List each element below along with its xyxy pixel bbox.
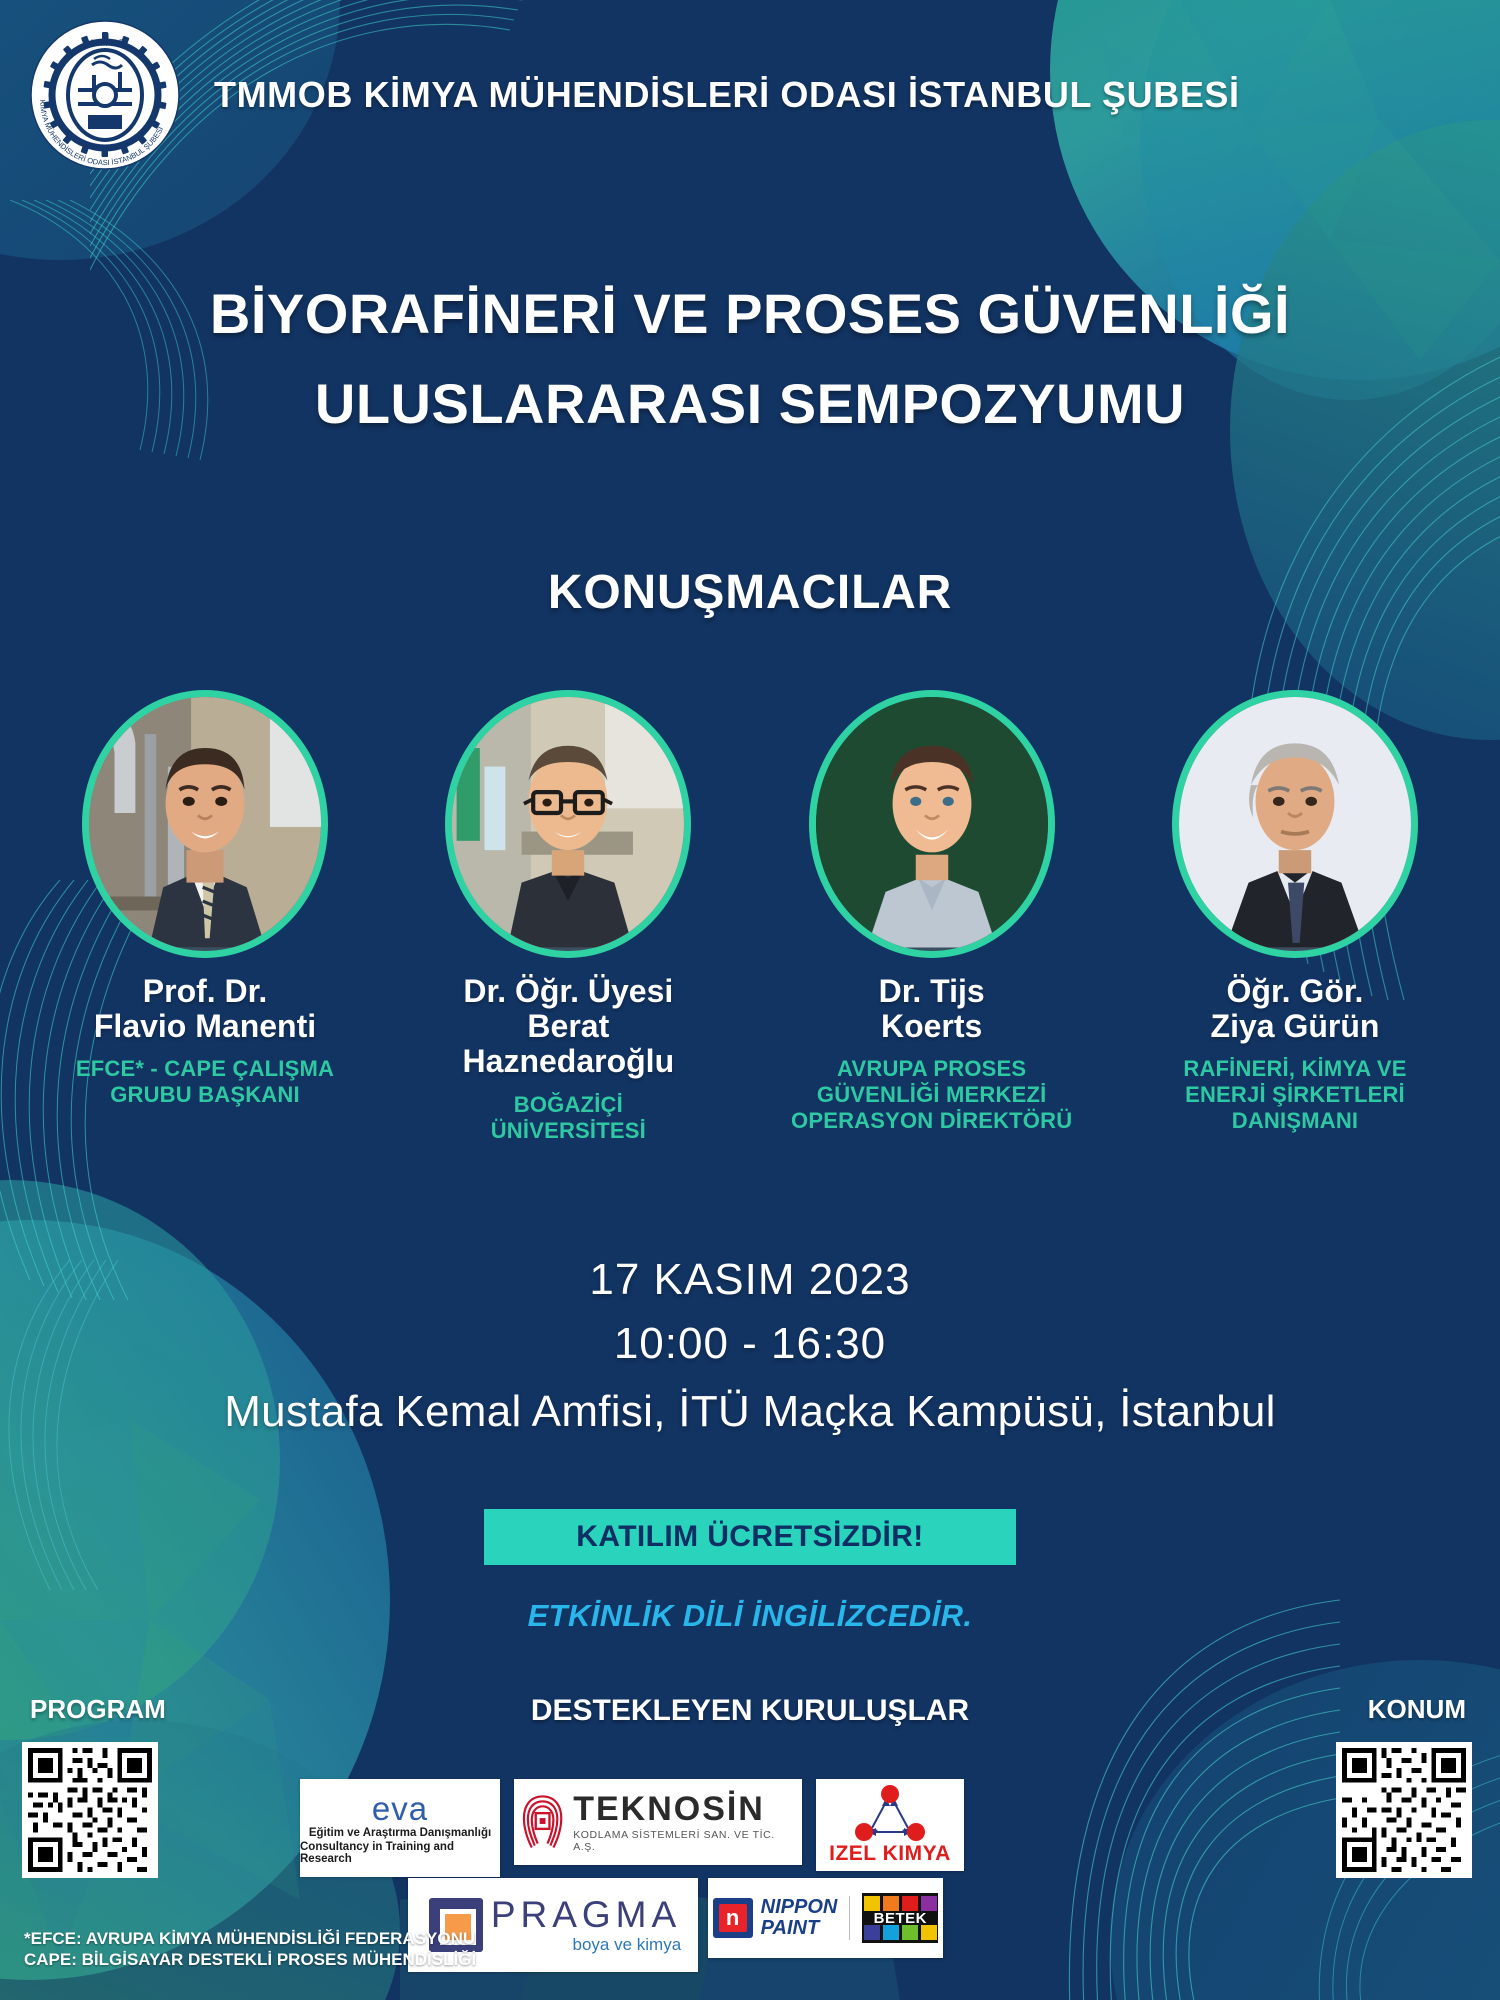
speaker-name: Prof. Dr. Flavio Manenti (40, 974, 370, 1044)
title-line-2: ULUSLARARASI SEMPOZYUMU (0, 368, 1500, 440)
free-admission-banner: KATILIM ÜCRETSİZDİR! (484, 1509, 1016, 1565)
event-language-note: ETKİNLİK DİLİ İNGİLİZCEDİR. (0, 1598, 1500, 1634)
izel-wordmark: IZEL KIMYA (829, 1842, 951, 1866)
sponsor-logos-row-2: PRAGMA boya ve kimya NIPPON PAINT (408, 1878, 943, 1972)
logo-divider (849, 1896, 850, 1940)
speakers-list: Prof. Dr. Flavio Manenti EFCE* - CAPE ÇA… (40, 690, 1460, 1143)
sponsor-logo-teknosin: TEKNOSİN KODLAMA SİSTEMLERİ SAN. VE TİC.… (514, 1779, 802, 1865)
speaker-card-4: Öğr. Gör. Ziya Gürün RAFİNERİ, KİMYA VE … (1130, 690, 1460, 1143)
speaker-name: Öğr. Gör. Ziya Gürün (1130, 974, 1460, 1044)
poster-header: TMMOB KİMYA MÜHENDİSLERİ ODASI İSTANBUL … (0, 0, 1500, 190)
speaker-name: Dr. Tijs Koerts (767, 974, 1097, 1044)
betek-logo: BETEK (862, 1893, 938, 1943)
nippon-wordmark-1: NIPPON (761, 1897, 838, 1918)
speaker-name: Dr. Öğr. Üyesi Berat Haznedaroğlu (403, 974, 733, 1080)
event-details: 17 KASIM 2023 10:00 - 16:30 Mustafa Kema… (0, 1255, 1500, 1437)
eva-tagline-tr: Eğitim ve Araştırma Danışmanlığı (309, 1827, 491, 1839)
betek-wordmark: BETEK (874, 1910, 927, 1927)
event-venue: Mustafa Kemal Amfisi, İTÜ Maçka Kampüsü,… (0, 1387, 1500, 1437)
speaker-affiliation: AVRUPA PROSES GÜVENLİĞİ MERKEZİ OPERASYO… (767, 1056, 1097, 1134)
pragma-tagline: boya ve kimya (573, 1935, 682, 1955)
sponsor-logo-nippon-paint-betek: NIPPON PAINT BETEK (708, 1878, 943, 1958)
nippon-wordmark-2: PAINT (761, 1918, 838, 1939)
event-time: 10:00 - 16:30 (0, 1319, 1500, 1369)
title-line-1: BİYORAFİNERİ VE PROSES GÜVENLİĞİ (0, 278, 1500, 350)
fingerprint-icon (520, 1792, 565, 1852)
nippon-n-icon (713, 1898, 753, 1938)
speaker-card-2: Dr. Öğr. Üyesi Berat Haznedaroğlu BOĞAZİ… (403, 690, 733, 1143)
speaker-card-3: Dr. Tijs Koerts AVRUPA PROSES GÜVENLİĞİ … (767, 690, 1097, 1143)
sponsor-logos-row-1: eva Eğitim ve Araştırma Danışmanlığı Con… (300, 1779, 964, 1877)
teknosin-wordmark: TEKNOSİN (573, 1792, 796, 1826)
sponsor-logo-izel-kimya: IZEL KIMYA (816, 1779, 964, 1871)
organization-title: TMMOB KİMYA MÜHENDİSLERİ ODASI İSTANBUL … (214, 74, 1240, 116)
teknosin-tagline: KODLAMA SİSTEMLERİ SAN. VE TİC. A.Ş. (573, 1829, 796, 1853)
eva-tagline-en: Consultancy in Training and Research (300, 1841, 500, 1865)
location-qr-code[interactable] (1336, 1742, 1472, 1878)
speaker-photo-tijs-koerts (809, 690, 1055, 958)
speakers-heading: KONUŞMACILAR (0, 565, 1500, 620)
izel-triangle-icon (840, 1784, 940, 1842)
event-date: 17 KASIM 2023 (0, 1255, 1500, 1305)
speaker-photo-flavio-manenti (82, 690, 328, 958)
speaker-photo-berat-haznedaroglu (445, 690, 691, 958)
sponsors-label: DESTEKLEYEN KURULUŞLAR (0, 1694, 1500, 1728)
poster-canvas: TMMOB KİMYA MÜHENDİSLERİ ODASI İSTANBUL … (0, 0, 1500, 2000)
speaker-affiliation: RAFİNERİ, KİMYA VE ENERJİ ŞİRKETLERİ DAN… (1130, 1056, 1460, 1134)
speaker-card-1: Prof. Dr. Flavio Manenti EFCE* - CAPE ÇA… (40, 690, 370, 1143)
svg-text:TMMOB: TMMOB (83, 38, 127, 48)
program-qr-code[interactable] (22, 1742, 158, 1878)
pragma-wordmark: PRAGMA (491, 1896, 681, 1933)
speaker-affiliation: EFCE* - CAPE ÇALIŞMA GRUBU BAŞKANI (40, 1056, 370, 1108)
eva-wordmark: eva (372, 1792, 428, 1825)
footnote-abbreviations: *EFCE: AVRUPA KİMYA MÜHENDİSLİĞİ FEDERAS… (24, 1928, 476, 1971)
page-title: BİYORAFİNERİ VE PROSES GÜVENLİĞİ ULUSLAR… (0, 278, 1500, 439)
speaker-affiliation: BOĞAZİÇİ ÜNİVERSİTESİ (403, 1092, 733, 1144)
speaker-photo-ziya-gurun (1172, 690, 1418, 958)
sponsor-logo-eva: eva Eğitim ve Araştırma Danışmanlığı Con… (300, 1779, 500, 1877)
tmmob-logo: TMMOB KİMYA MÜHENDİSLERİ ODASI İSTANBUL … (30, 20, 180, 170)
